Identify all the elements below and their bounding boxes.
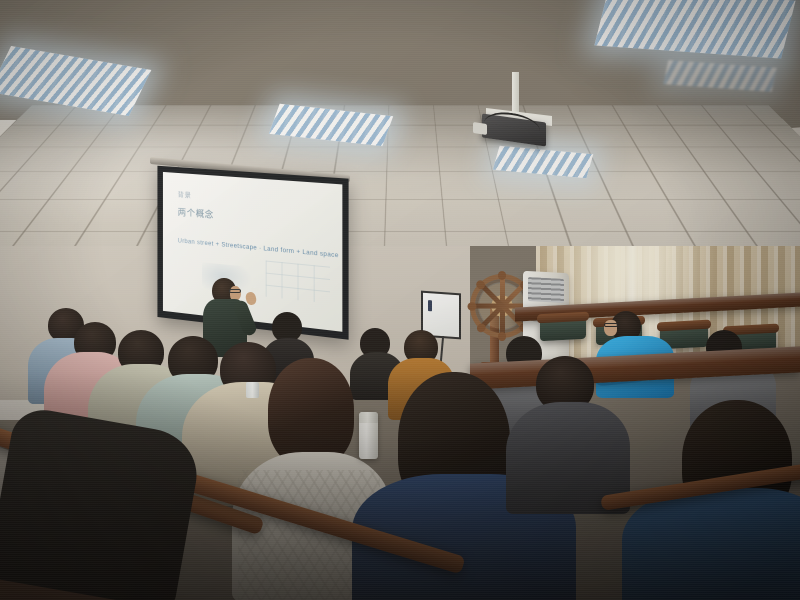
fluorescent-light-fixture xyxy=(594,0,795,59)
glasses-icon xyxy=(229,289,241,293)
chair xyxy=(540,317,586,341)
projector-mount-rod xyxy=(512,72,519,116)
slide-table-graphic xyxy=(266,261,330,304)
projection-screen: 背景 两个概念 Urban street + Streetscape · Lan… xyxy=(157,166,348,340)
presentation-slide: 背景 两个概念 Urban street + Streetscape · Lan… xyxy=(163,172,342,332)
paper-cup xyxy=(246,382,259,398)
fluorescent-light-fixture xyxy=(663,60,776,92)
white-vacuum-flask xyxy=(359,412,378,459)
ceiling-shading xyxy=(0,105,800,246)
slide-body-line: Urban street + Streetscape · Land form +… xyxy=(178,237,330,258)
screen-surface: 背景 两个概念 Urban street + Streetscape · Lan… xyxy=(163,172,342,332)
glasses-icon xyxy=(604,323,618,327)
projector-lens xyxy=(473,122,487,135)
suspended-tile-ceiling xyxy=(0,105,800,246)
ac-vent-grille xyxy=(528,277,564,303)
slide-title: 两个概念 xyxy=(178,205,330,231)
whiteboard-marker xyxy=(428,300,432,311)
photo-scene: 背景 两个概念 Urban street + Streetscape · Lan… xyxy=(0,0,800,600)
fluorescent-light-fixture xyxy=(0,46,151,116)
